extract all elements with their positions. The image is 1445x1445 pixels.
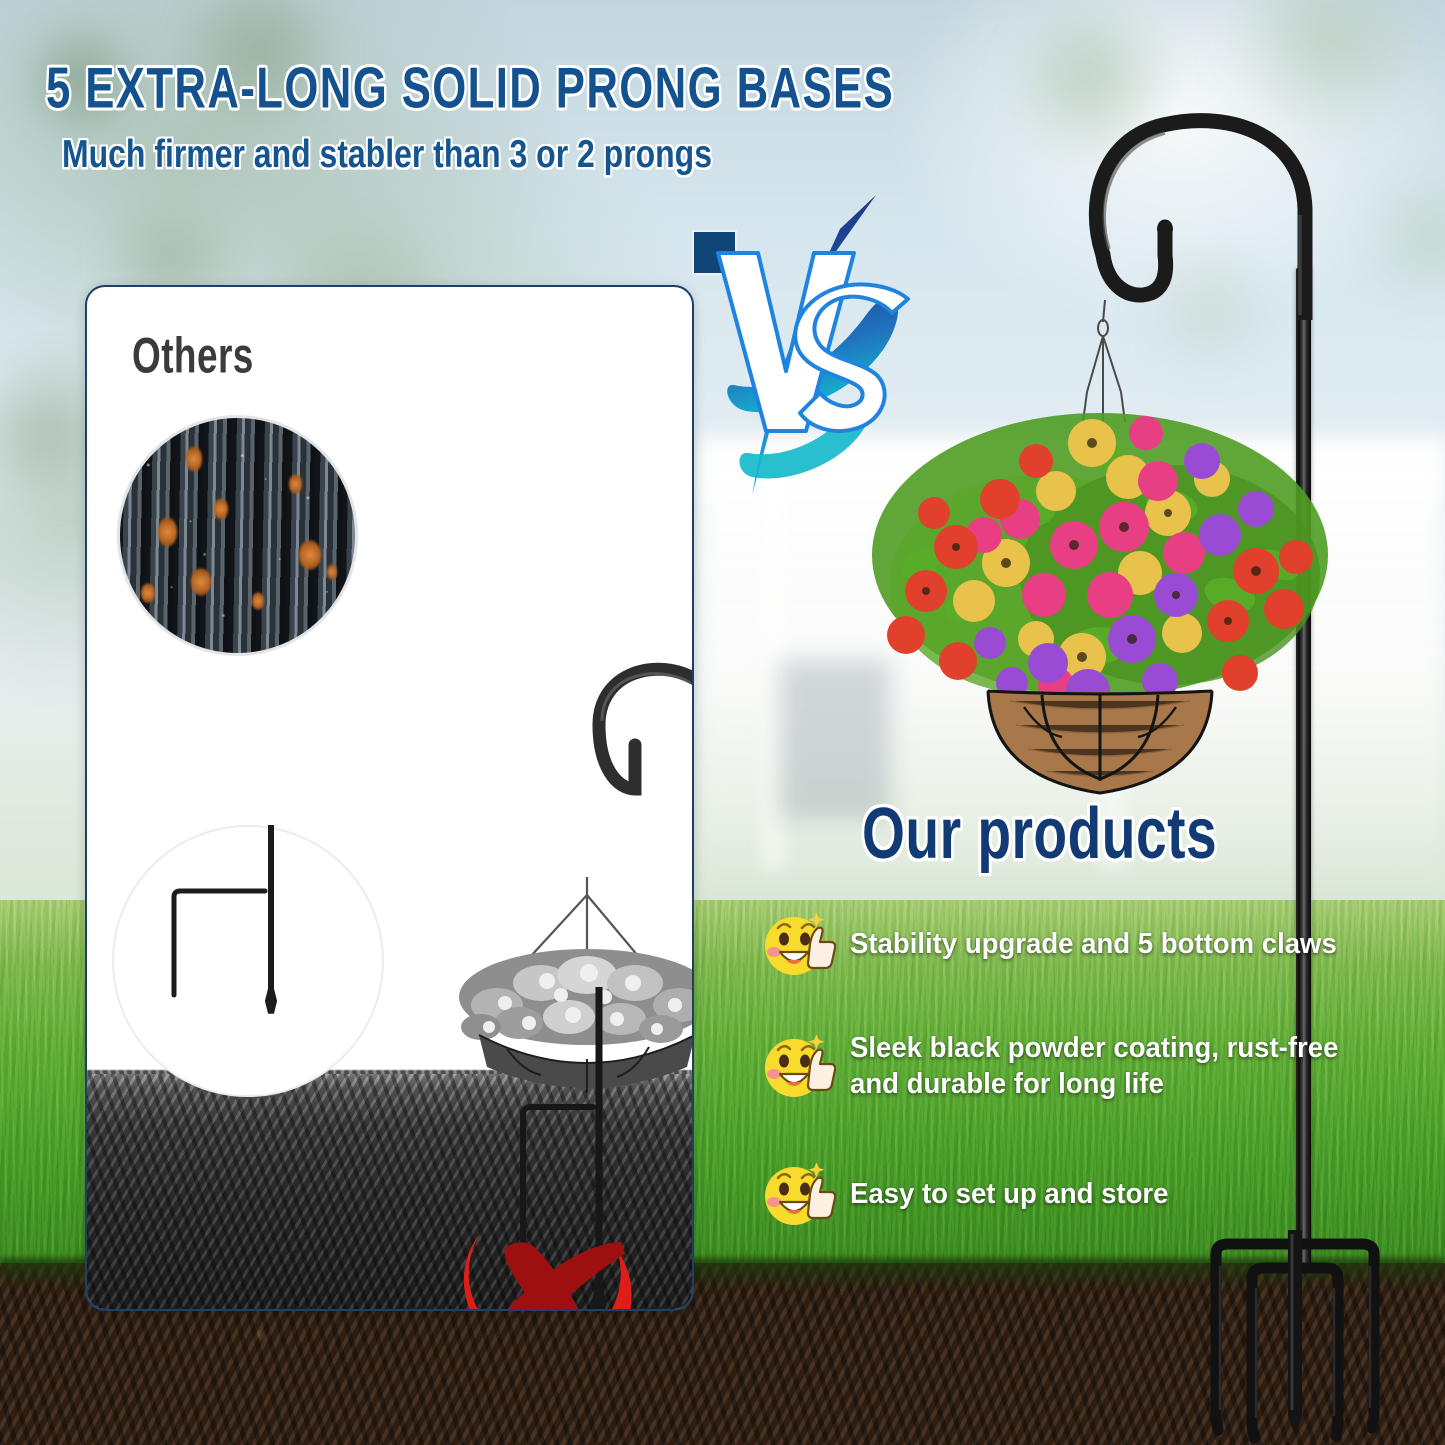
others-label: Others bbox=[132, 327, 254, 385]
smiley-thumbs-up-icon bbox=[762, 1030, 836, 1104]
smiley-thumbs-up-icon bbox=[762, 1158, 836, 1232]
promo-image: 5 EXTRA-LONG SOLID PRONG BASES Much firm… bbox=[0, 0, 1445, 1445]
two-prong-stake-icon bbox=[112, 825, 380, 1093]
others-comparison-panel: Others bbox=[85, 285, 694, 1311]
smiley-thumbs-up-icon bbox=[762, 908, 836, 982]
water-droplets bbox=[120, 418, 355, 653]
rusty-poles-icon bbox=[117, 415, 358, 656]
red-x-mark-icon bbox=[457, 1192, 642, 1311]
benefit-item-2: Sleek black powder coating, rust-free an… bbox=[762, 1030, 1364, 1104]
page-subtitle: Much firmer and stabler than 3 or 2 pron… bbox=[62, 133, 712, 177]
benefit-item-3: Easy to set up and store bbox=[762, 1158, 1185, 1232]
our-products-title: Our products bbox=[862, 792, 1217, 875]
five-prong-base-icon bbox=[1160, 1230, 1430, 1445]
benefit-item-1: Stability upgrade and 5 bottom claws bbox=[762, 908, 1362, 982]
colorful-hanging-basket-icon bbox=[860, 395, 1340, 795]
benefit-label-3: Easy to set up and store bbox=[850, 1177, 1168, 1213]
benefit-label-2: Sleek black powder coating, rust-free an… bbox=[850, 1031, 1338, 1103]
page-title: 5 EXTRA-LONG SOLID PRONG BASES bbox=[46, 54, 894, 121]
shepherd-hook-icon bbox=[1055, 105, 1335, 320]
benefit-label-1: Stability upgrade and 5 bottom claws bbox=[850, 927, 1337, 963]
